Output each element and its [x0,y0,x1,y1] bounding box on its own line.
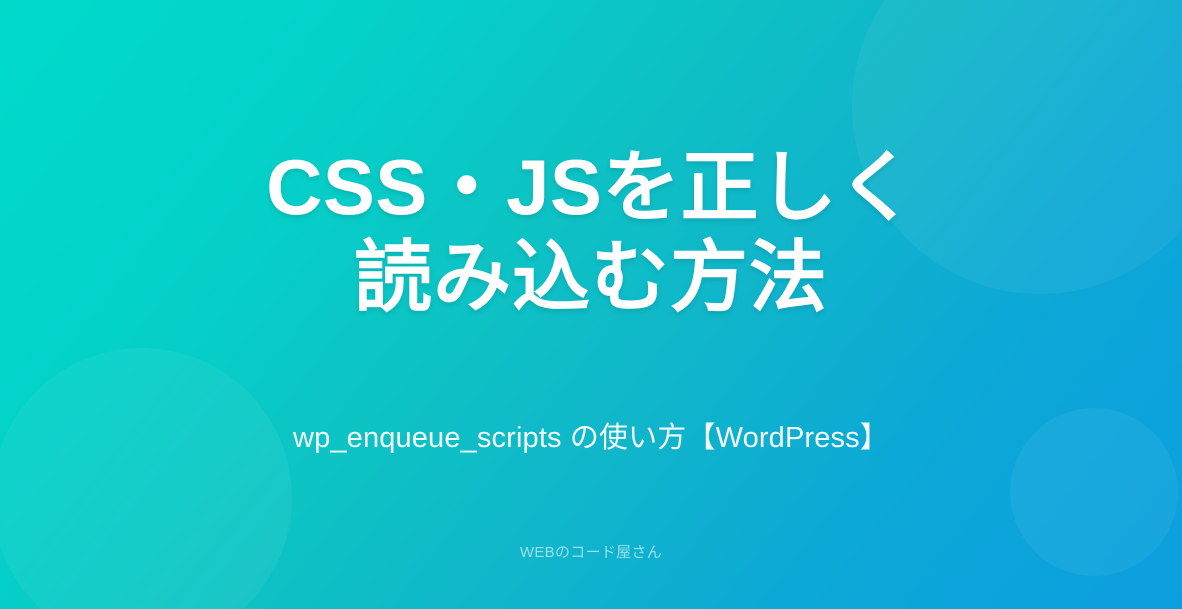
subtitle: wp_enqueue_scripts の使い方【WordPress】 [0,420,1182,458]
title-line-2: 読み込む方法 [0,232,1182,322]
title-line-1: CSS・JSを正しく [0,142,1182,232]
content-wrapper: CSS・JSを正しく 読み込む方法 wp_enqueue_scripts の使い… [0,0,1182,609]
eyecatch-canvas: CSS・JSを正しく 読み込む方法 wp_enqueue_scripts の使い… [0,0,1182,609]
page-title: CSS・JSを正しく 読み込む方法 [0,142,1182,323]
site-credit: WEBのコード屋さん [0,541,1182,562]
